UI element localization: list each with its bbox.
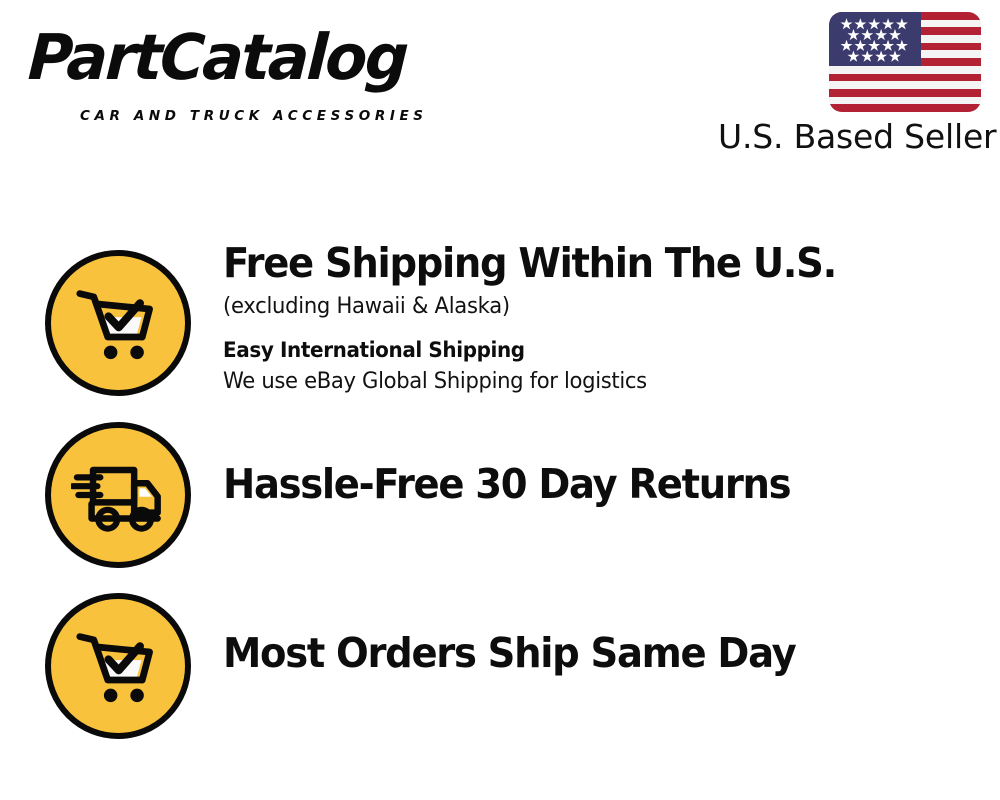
flag-canton bbox=[829, 12, 921, 66]
feature-heading: Most Orders Ship Same Day bbox=[223, 632, 944, 675]
us-flag-icon bbox=[829, 12, 981, 112]
brand-logo[interactable]: PartCatalog CAR AND TRUCK ACCESSORIES bbox=[24, 18, 494, 118]
feature-subtext: (excluding Hawaii & Alaska) bbox=[223, 292, 959, 322]
shopping-cart-check-icon bbox=[45, 250, 191, 396]
shopping-cart-check-icon bbox=[45, 593, 191, 739]
feature-heading: Free Shipping Within The U.S. bbox=[223, 242, 944, 285]
brand-tagline: CAR AND TRUCK ACCESSORIES bbox=[80, 108, 428, 124]
feature-secondary-subtext: We use eBay Global Shipping for logistic… bbox=[223, 368, 959, 397]
feature-secondary-heading: Easy International Shipping bbox=[223, 337, 952, 364]
feature-text-block: Hassle-Free 30 Day Returns bbox=[223, 463, 990, 506]
us-based-seller-label: U.S. Based Seller bbox=[718, 117, 996, 156]
delivery-truck-icon bbox=[45, 422, 191, 568]
us-based-seller-badge: U.S. Based Seller bbox=[698, 12, 988, 157]
feature-text-block: Most Orders Ship Same Day bbox=[223, 632, 990, 675]
brand-wordmark: PartCatalog bbox=[27, 26, 408, 89]
feature-row: Hassle-Free 30 Day Returns bbox=[0, 415, 1000, 575]
feature-heading: Hassle-Free 30 Day Returns bbox=[223, 463, 944, 506]
feature-row: Free Shipping Within The U.S. (excluding… bbox=[0, 242, 1000, 412]
feature-text-block: Free Shipping Within The U.S. (excluding… bbox=[223, 242, 990, 397]
feature-row: Most Orders Ship Same Day bbox=[0, 586, 1000, 746]
